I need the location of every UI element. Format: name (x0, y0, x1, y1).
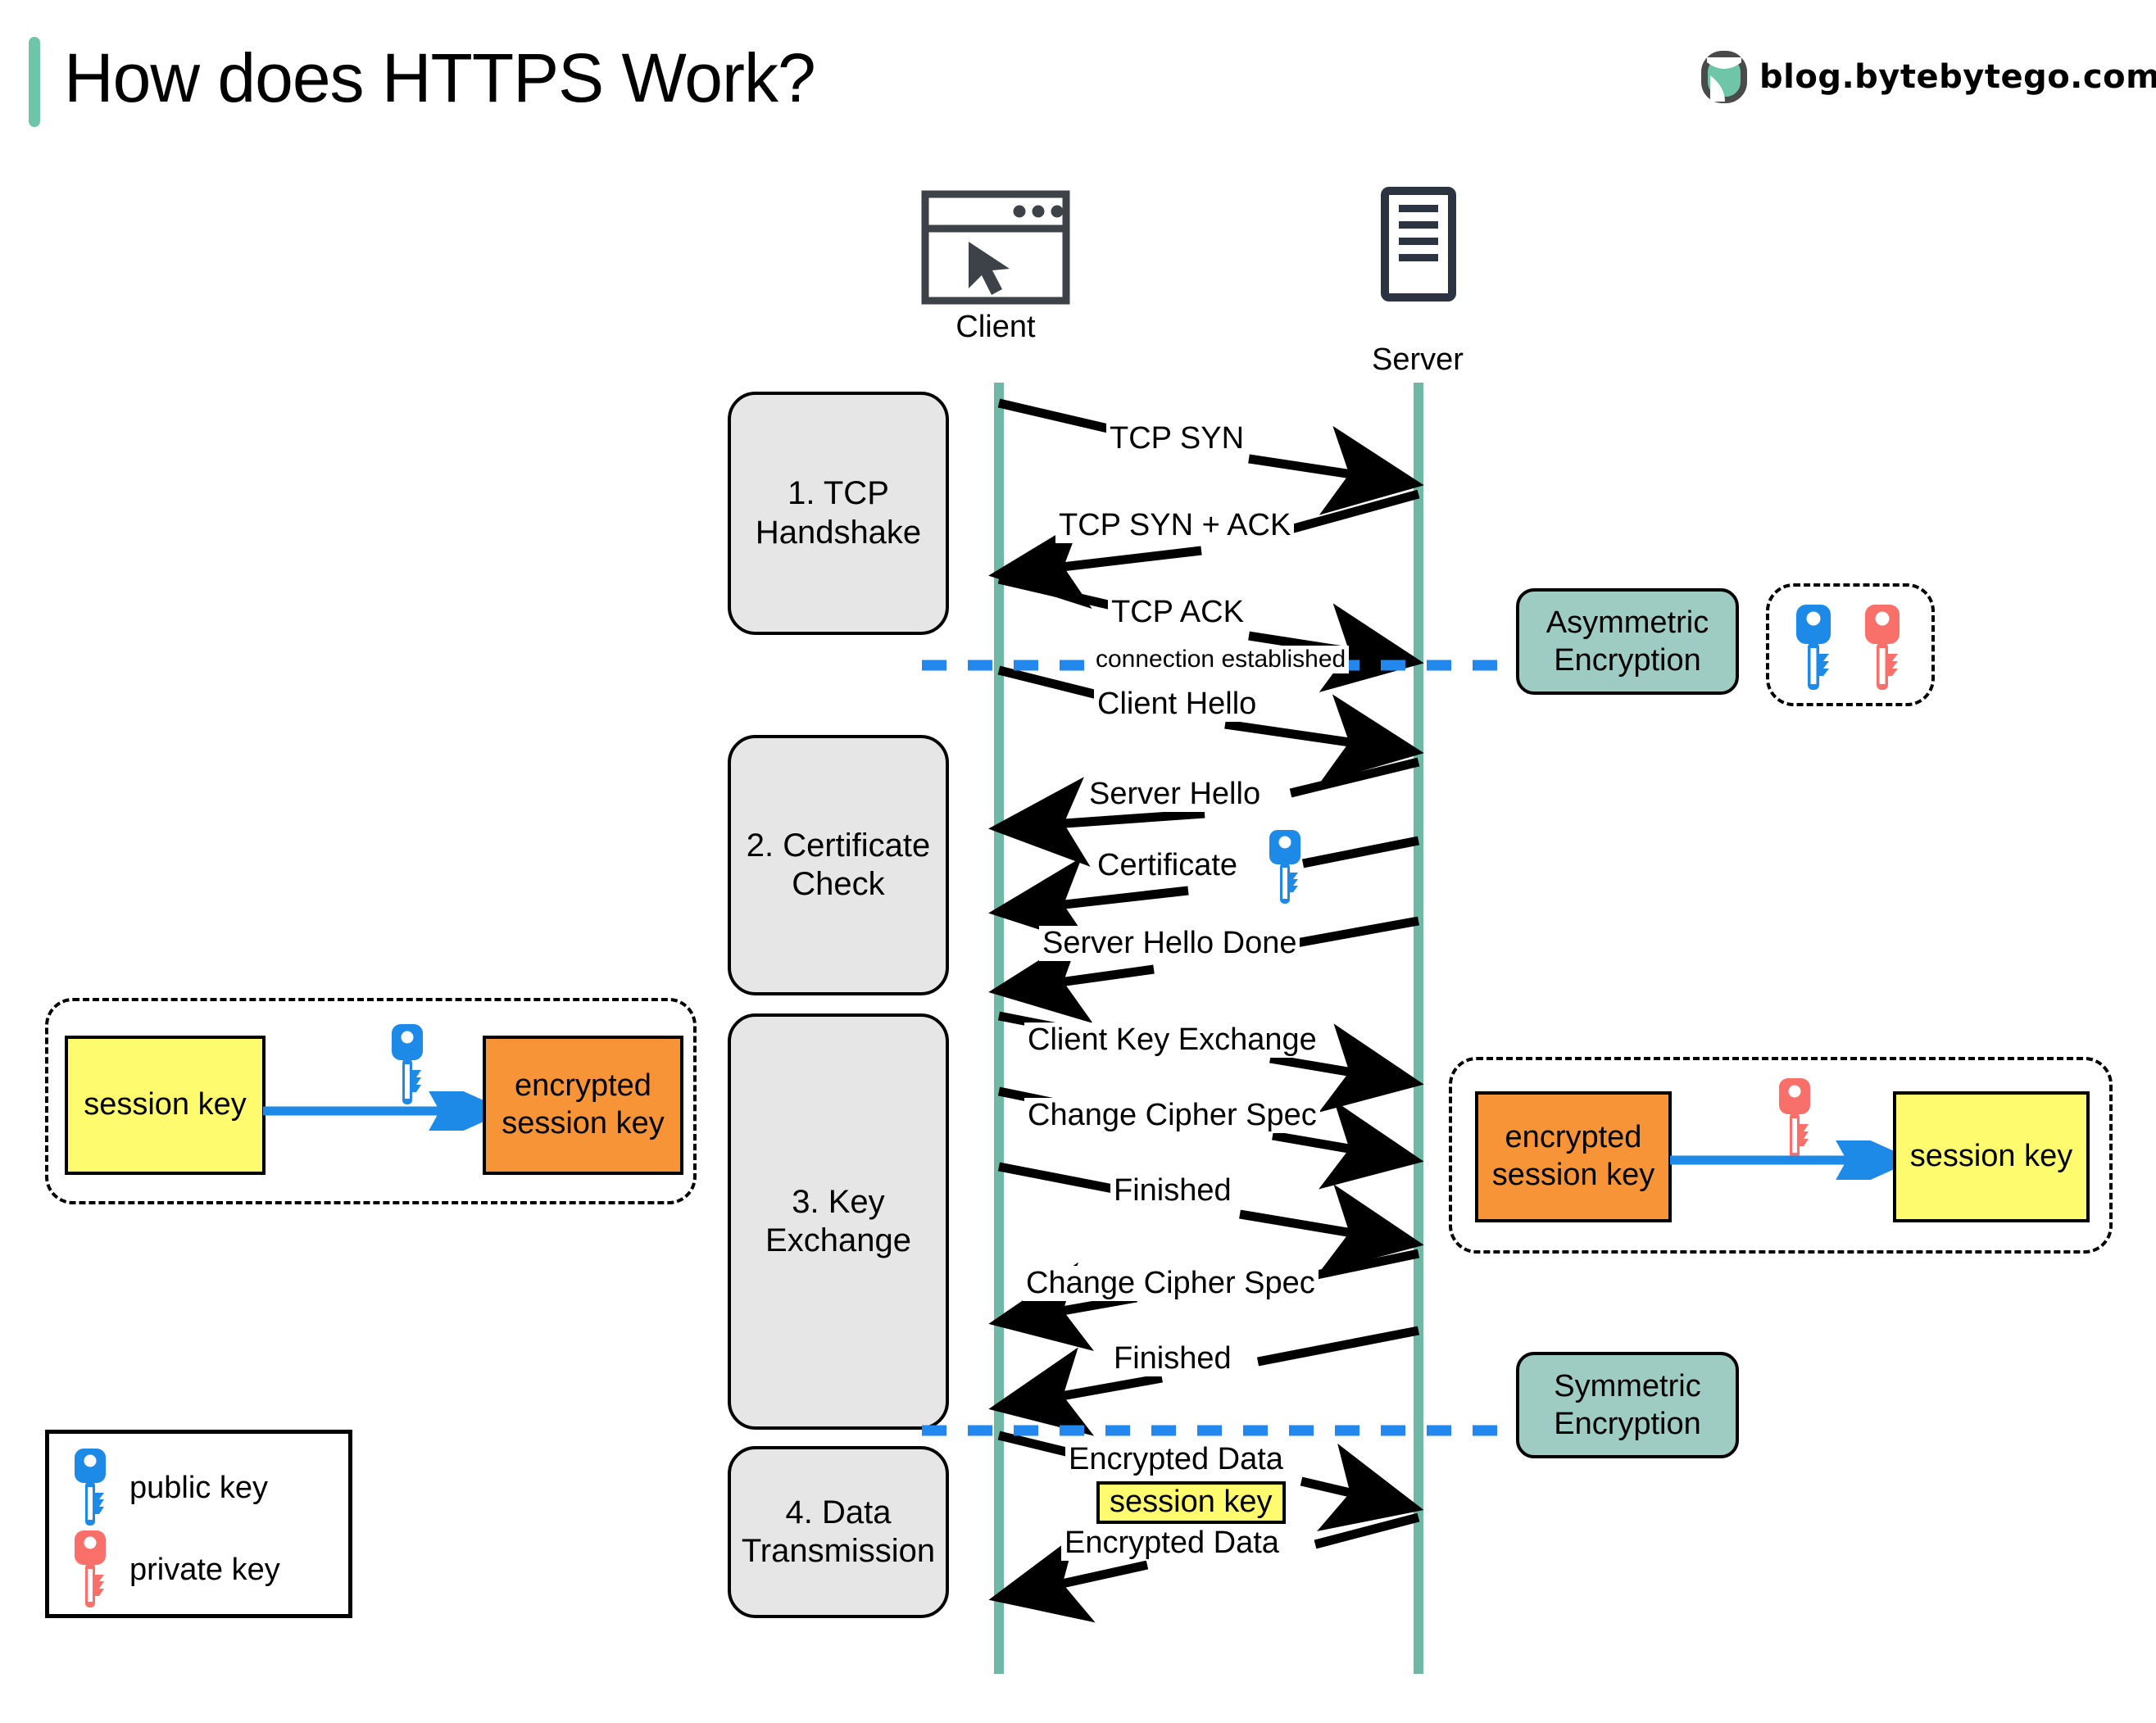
public-key-icon (1792, 605, 1835, 696)
message-label-change-cipher-spec: Change Cipher Spec (1023, 1266, 1319, 1301)
certificate-public-key-icon (1266, 830, 1304, 909)
asymmetric-label-line2: Encryption (1554, 643, 1701, 678)
phase-box-data-transmission[interactable]: 4. Data Transmission (728, 1446, 949, 1618)
server-label: Server (1323, 342, 1512, 378)
title-accent-bar (29, 37, 40, 127)
public-key-icon (72, 1449, 108, 1527)
phase-label-line2: Check (792, 866, 884, 902)
brand-text: blog.bytebytego.com (1759, 58, 2156, 96)
phase-label-line2: Transmission (742, 1533, 935, 1569)
plain-session-key-box: session key (65, 1036, 266, 1175)
private-key-icon (72, 1530, 108, 1609)
asymmetric-encryption-box: Asymmetric Encryption (1516, 588, 1739, 695)
encrypted-label-line1: encrypted (1505, 1120, 1642, 1154)
phase-label-line2: Handshake (756, 515, 921, 551)
legend-label: public key (129, 1471, 268, 1506)
server-icon (1381, 187, 1456, 306)
message-label-finished: Finished (1110, 1173, 1235, 1208)
legend-label: private key (129, 1553, 280, 1588)
decrypt-session-key-panel: encrypted session key session key (1449, 1057, 2113, 1254)
legend-item-public-key: public key (72, 1449, 268, 1527)
phase-box-certificate-check[interactable]: 2. Certificate Check (728, 735, 949, 995)
message-label-tcp-ack: TCP ACK (1108, 595, 1247, 630)
key-pair-panel (1766, 583, 1935, 706)
client-lifeline (994, 383, 1004, 1674)
symmetric-label-line2: Encryption (1554, 1407, 1701, 1441)
session-key-badge: session key (1096, 1481, 1286, 1524)
server-lifeline (1414, 383, 1423, 1674)
private-key-icon (1861, 605, 1904, 696)
phase-label-line1: 4. Data (786, 1494, 892, 1530)
client-label: Client (901, 310, 1090, 345)
message-label-server-hello-done: Server Hello Done (1039, 926, 1300, 961)
symmetric-encryption-box: Symmetric Encryption (1516, 1352, 1739, 1458)
encrypted-label-line1: encrypted (515, 1068, 651, 1103)
phase-label-line1: 2. Certificate (747, 827, 931, 864)
message-label-encrypted-data: Encrypted Data (1061, 1526, 1282, 1561)
phase-label-line1: 1. TCP (788, 475, 889, 511)
message-label-server-hello: Server Hello (1086, 777, 1264, 812)
encrypt-arrow (260, 1091, 514, 1131)
separator-label-connection-established: connection established (1092, 646, 1349, 673)
legend-item-private-key: private key (72, 1530, 280, 1609)
message-label-client-key-exchange: Client Key Exchange (1024, 1022, 1320, 1058)
encrypted-session-key-box: encrypted session key (1475, 1091, 1672, 1222)
message-label-encrypted-data: Encrypted Data (1065, 1442, 1287, 1477)
phase-label-line1: 3. Key (792, 1184, 884, 1220)
message-label-tcp-syn-ack: TCP SYN + ACK (1055, 508, 1294, 543)
page-title: How does HTTPS Work? (64, 33, 815, 123)
client-icon (921, 190, 1070, 309)
encrypted-label-line2: session key (502, 1106, 665, 1140)
encrypt-session-key-panel: session key encrypted session key (45, 998, 697, 1204)
symmetric-label-line1: Symmetric (1554, 1369, 1700, 1403)
asymmetric-label-line1: Asymmetric (1546, 605, 1709, 640)
message-label-tcp-syn: TCP SYN (1106, 421, 1247, 456)
encrypted-label-line2: session key (1492, 1158, 1655, 1192)
message-label-certificate: Certificate (1094, 848, 1241, 883)
message-label-finished: Finished (1110, 1341, 1235, 1376)
diagram-canvas: How does HTTPS Work? blog.bytebytego.com… (0, 0, 2156, 1723)
message-label-client-hello: Client Hello (1094, 687, 1260, 722)
plain-session-key-box: session key (1893, 1091, 2090, 1222)
encrypted-session-key-box: encrypted session key (483, 1036, 683, 1175)
decrypt-arrow (1667, 1140, 1921, 1180)
message-label-change-cipher-spec: Change Cipher Spec (1024, 1098, 1320, 1133)
phase-box-tcp-handshake[interactable]: 1. TCP Handshake (728, 392, 949, 635)
phase-label-line2: Exchange (765, 1222, 911, 1258)
brand-logo: blog.bytebytego.com (1700, 51, 2156, 103)
phase-box-key-exchange[interactable]: 3. Key Exchange (728, 1013, 949, 1430)
bytebytego-logo-icon (1700, 51, 1748, 103)
legend: public key private key (45, 1430, 352, 1618)
